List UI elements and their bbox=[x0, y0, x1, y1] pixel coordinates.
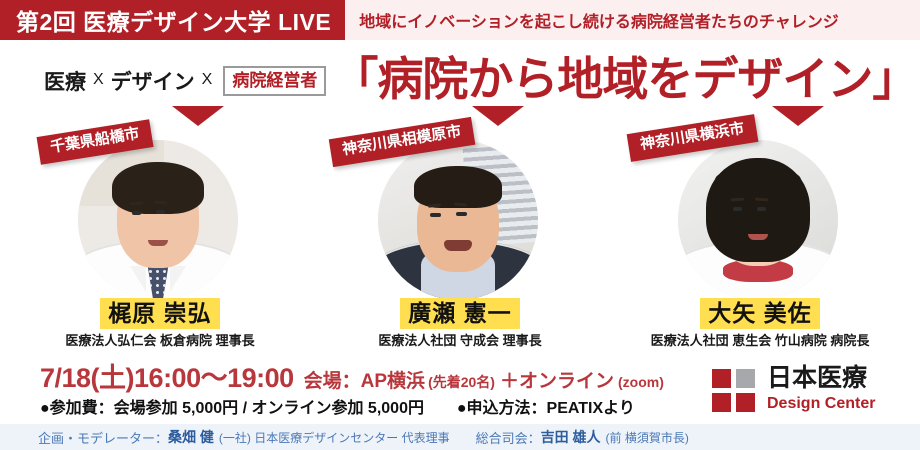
footer-credits: 企画・モデレーター： 桑畑 健 (一社) 日本医療デザインセンター 代表理事 総… bbox=[0, 424, 920, 450]
keyword-medical: 医療 bbox=[44, 66, 86, 96]
speaker-name: 梶原 崇弘 bbox=[20, 294, 300, 328]
speaker-role: 医療法人社団 恵生会 竹山病院 病院長 bbox=[620, 330, 900, 349]
event-poster: 第2回 医療デザイン大学 LIVE 地域にイノベーションを起こし続ける病院経営者… bbox=[0, 0, 920, 450]
logo-name-en: Design Center bbox=[767, 394, 875, 413]
moderator-note: (一社) 日本医療デザインセンター 代表理事 bbox=[219, 429, 450, 446]
event-series-badge: 第2回 医療デザイン大学 LIVE bbox=[0, 0, 345, 40]
speaker-card: 神奈川県横浜市 大矢 美佐 医療法人社団 恵生会 竹山病院 病院長 bbox=[620, 112, 900, 352]
keyword-design: デザイン bbox=[111, 66, 195, 96]
cross-separator-1: X bbox=[93, 71, 104, 89]
event-fee: ●参加費：会場参加 5,000円 / オンライン参加 5,000円 bbox=[40, 400, 424, 417]
mc-note: (前 横須賀市長) bbox=[605, 429, 688, 446]
cross-separator-2: X bbox=[202, 71, 213, 89]
event-tagline: 地域にイノベーションを起こし続ける病院経営者たちのチャレンジ bbox=[345, 0, 920, 40]
mc-name: 吉田 雄人 bbox=[541, 427, 601, 447]
keyword-hospital-manager-box: 病院経営者 bbox=[223, 66, 326, 96]
event-online-note: (zoom) bbox=[618, 374, 664, 390]
event-apply-method: ●申込方法：PEATIXより bbox=[457, 400, 635, 417]
page-title: 「病院から地域をデザイン」 bbox=[332, 56, 917, 102]
speaker-name: 大矢 美佐 bbox=[620, 294, 900, 328]
title-row: 医療 X デザイン X 病院経営者 「病院から地域をデザイン」 bbox=[0, 52, 920, 110]
speaker-photo bbox=[78, 140, 238, 300]
event-venue: 会場：AP横浜 bbox=[304, 366, 425, 393]
mc-label: 総合司会： bbox=[476, 428, 541, 447]
event-fee-and-apply: ●参加費：会場参加 5,000円 / オンライン参加 5,000円 ●申込方法：… bbox=[40, 394, 635, 418]
speaker-list: 千葉県船橋市 梶原 崇弘 医療法人弘仁会 板倉病院 理事長 bbox=[0, 112, 920, 352]
speaker-role: 医療法人社団 守成会 理事長 bbox=[320, 330, 600, 349]
event-venue-note: (先着20名) bbox=[428, 372, 495, 392]
speaker-photo bbox=[378, 140, 538, 300]
event-datetime-venue: 7/18(土)16:00〜19:00 会場：AP横浜 (先着20名) ＋オンライ… bbox=[40, 356, 664, 395]
speaker-role: 医療法人弘仁会 板倉病院 理事長 bbox=[20, 330, 300, 349]
moderator-label: 企画・モデレーター： bbox=[38, 428, 168, 447]
speaker-card: 千葉県船橋市 梶原 崇弘 医療法人弘仁会 板倉病院 理事長 bbox=[20, 112, 300, 352]
speaker-name: 廣瀬 憲一 bbox=[320, 294, 600, 328]
speaker-card: 神奈川県相模原市 廣瀬 憲一 医療法人社団 守成会 理事長 bbox=[320, 112, 600, 352]
logo-squares-icon bbox=[712, 369, 756, 411]
event-online-option: ＋オンライン bbox=[500, 366, 614, 393]
logo-name-jp: 日本医療 bbox=[767, 366, 875, 391]
event-datetime: 7/18(土)16:00〜19:00 bbox=[40, 356, 294, 395]
speaker-photo bbox=[678, 140, 838, 300]
header-bar: 第2回 医療デザイン大学 LIVE 地域にイノベーションを起こし続ける病院経営者… bbox=[0, 0, 920, 40]
organization-logo: 日本医療 Design Center bbox=[712, 364, 908, 416]
moderator-name: 桑畑 健 bbox=[168, 427, 214, 447]
